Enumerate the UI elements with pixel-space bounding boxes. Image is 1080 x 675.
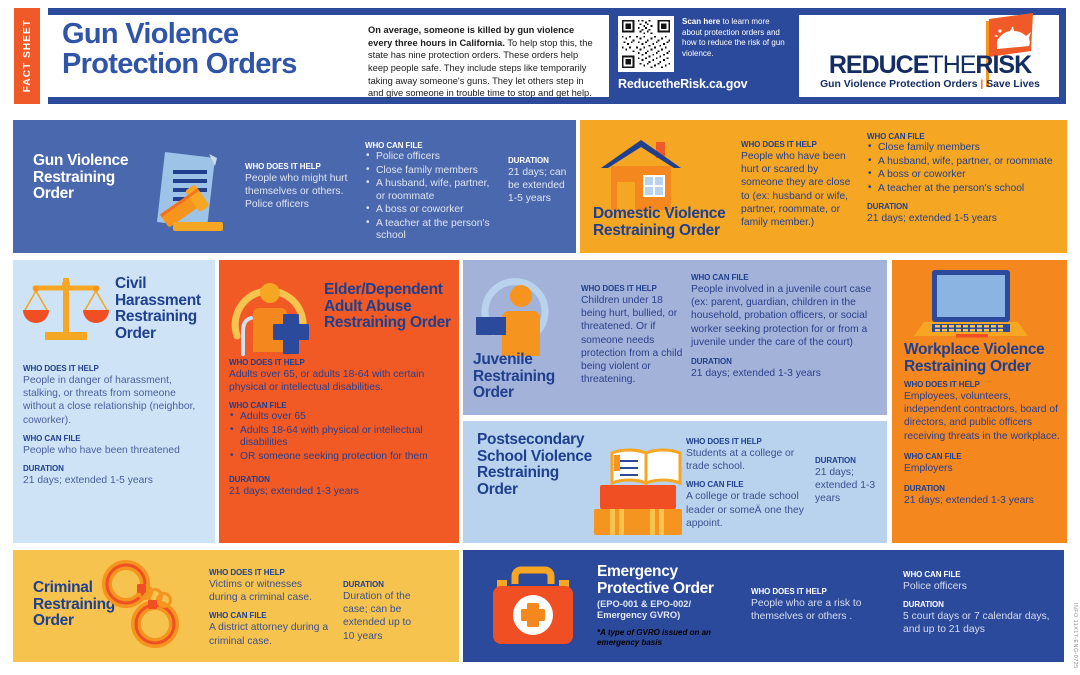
logo-tagline-left: Gun Violence Protection Orders [820,79,977,90]
infographic-page: FACT SHEET Gun Violence Protection Order… [0,0,1080,675]
text-who-help-cro: Victims or witnesses during a criminal c… [209,578,331,604]
text-duration-dvro: 21 days; extended 1-5 years [867,212,1057,225]
reduce-the-risk-logo: REDUCETHERISK Gun Violence Protection Or… [799,8,1066,104]
card-title-wvro-line1: Workplace Violence [904,342,1064,359]
card-title-gvro: Gun Violence Restraining Order [33,153,153,203]
card-elder-dependent-adult-abuse-restraining-order: Elder/Dependent Adult Abuse Restraining … [219,260,459,543]
text-who-help-jro: Children under 18 being hurt, bullied, o… [581,294,685,386]
card-workplace-violence-restraining-order: Workplace Violence Restraining Order WHO… [892,260,1067,543]
card-title-psvro: Postsecondary School Violence Restrainin… [477,432,592,498]
text-who-file-psvro: A college or trade school leader or some… [686,490,808,530]
card-note-epo-line2: emergency basis [597,638,727,648]
page-title-line2: Protection Orders [62,50,362,80]
label-duration-psvro: DURATION [815,456,877,465]
list-item: A husband, wife, partner, or roommate [867,156,1057,169]
label-duration-edaro: DURATION [229,475,451,484]
text-who-help-wvro: Employees, volunteers, independent contr… [904,390,1060,443]
document-code: INFO 11X17-ENG-0725 [1072,603,1078,669]
card-criminal-restraining-order: Criminal Restraining Order WHO DOES IT H… [13,550,459,662]
first-aid-kit-icon [483,562,583,653]
list-item: Adults 18-64 with physical or intellectu… [229,425,451,450]
text-duration-gvro: 21 days; can be extended 1-5 years [508,166,572,206]
label-who-help-wvro: WHO DOES IT HELP [904,380,1060,389]
fact-sheet-label: FACT SHEET [22,19,33,92]
card-emergency-protective-order: Emergency Protective Order (EPO-001 & EP… [463,550,1064,662]
gavel-document-icon [137,142,237,247]
card-title-edaro-line1: Elder/Dependent [324,282,454,299]
label-duration-jro: DURATION [691,357,881,366]
card-domestic-violence-restraining-order: Domestic Violence Restraining Order WHO … [580,120,1067,253]
list-item: A teacher at the person's school [867,183,1057,196]
text-duration-psvro: 21 days; extended 1-3 years [815,466,877,506]
logo-word-the: THE [928,51,975,79]
card-postsecondary-school-violence-restraining-order: Postsecondary School Violence Restrainin… [463,421,887,543]
text-duration-cro: Duration of the case; can be extended up… [343,590,425,643]
text-who-file-cro: A district attorney during a criminal ca… [209,621,331,647]
list-item: A boss or coworker [867,169,1057,182]
handcuffs-icon [93,556,201,661]
label-who-help-chro: WHO DOES IT HELP [23,364,208,373]
list-who-file-gvro: Police officers Close family members A h… [365,151,500,243]
page-header: FACT SHEET Gun Violence Protection Order… [0,0,1080,112]
card-subtitle-epo: (EPO-001 & EPO-002/ Emergency GVRO) [597,599,727,621]
card-gun-violence-restraining-order: Gun Violence Restraining Order WHO DOES … [13,120,576,253]
page-title: Gun Violence Protection Orders [62,20,362,79]
stack-of-books-icon [588,441,688,542]
label-who-file-wvro: WHO CAN FILE [904,452,1060,461]
qr-code-icon[interactable] [618,16,674,72]
text-who-file-wvro: Employers [904,462,1060,475]
card-title-jro: Juvenile Restraining Order [473,352,573,402]
text-who-help-psvro: Students at a college or trade school. [686,447,808,473]
label-who-file-dvro: WHO CAN FILE [867,132,1057,141]
card-subtitle-epo-line2: Emergency GVRO) [597,610,727,621]
label-who-file-edaro: WHO CAN FILE [229,401,451,410]
list-item: Police officers [365,151,500,164]
text-who-help-edaro: Adults over 65, or adults 18-64 with cer… [229,368,451,394]
label-who-file-gvro: WHO CAN FILE [365,141,500,150]
child-person-icon [471,266,569,363]
fact-sheet-tab: FACT SHEET [14,8,40,104]
list-who-file-edaro: Adults over 65 Adults 18-64 with physica… [229,411,451,463]
label-duration-wvro: DURATION [904,484,1060,493]
list-item: Close family members [867,142,1057,155]
list-item: Close family members [365,165,500,178]
laptop-icon [910,266,1032,349]
label-duration-cro: DURATION [343,580,425,589]
label-who-help-edaro: WHO DOES IT HELP [229,358,451,367]
card-juvenile-restraining-order: Juvenile Restraining Order WHO DOES IT H… [463,260,887,415]
text-duration-jro: 21 days; extended 1-3 years [691,367,881,380]
card-note-epo-line1: *A type of GVRO issued on an [597,628,727,638]
text-duration-epo: 5 court days or 7 calendar days, and up … [903,610,1051,636]
card-title-epo-line2: Protective Order [597,581,727,598]
logo-tagline: Gun Violence Protection Orders | Save Li… [805,79,1055,90]
label-who-help-jro: WHO DOES IT HELP [581,284,685,293]
list-item: Adults over 65 [229,411,451,424]
label-who-help-epo: WHO DOES IT HELP [751,587,871,596]
card-title-edaro-line3: Restraining Order [324,315,454,332]
text-who-file-epo: Police officers [903,580,1051,593]
label-who-help-gvro: WHO DOES IT HELP [245,162,355,171]
logo-tagline-right: Save Lives [986,79,1040,90]
qr-caption: Scan here to learn more about protection… [682,16,790,72]
label-duration-gvro: DURATION [508,156,572,165]
page-title-line1: Gun Violence [62,20,362,50]
list-item: A boss or coworker [365,204,500,217]
label-who-help-psvro: WHO DOES IT HELP [686,437,808,446]
scales-of-justice-icon [21,272,111,357]
card-title-epo-line1: Emergency [597,564,727,581]
text-duration-edaro: 21 days; extended 1-3 years [229,485,451,498]
list-who-file-dvro: Close family members A husband, wife, pa… [867,142,1057,195]
card-civil-harassment-restraining-order: Civil Harassment Restraining Order WHO D… [13,260,215,543]
qr-caption-bold: Scan here [682,17,720,26]
text-who-help-chro: People in danger of harassment, stalking… [23,374,208,427]
card-note-epo: *A type of GVRO issued on an emergency b… [597,628,727,648]
label-duration-chro: DURATION [23,464,208,473]
label-duration-dvro: DURATION [867,202,1057,211]
list-item: A teacher at the person's school [365,218,500,243]
logo-word-risk: RISK [975,51,1031,79]
label-who-file-psvro: WHO CAN FILE [686,480,808,489]
card-title-wvro: Workplace Violence Restraining Order [904,342,1064,375]
card-title-chro: Civil Harassment Restraining Order [115,276,211,342]
text-who-file-jro: People involved in a juvenile court case… [691,283,881,349]
text-who-help-dvro: People who have been hurt or scared by s… [741,150,859,229]
label-who-file-chro: WHO CAN FILE [23,434,208,443]
logo-wordmark: REDUCETHERISK [805,51,1055,80]
list-item: OR someone seeking protection for them [229,451,451,464]
card-title-edaro: Elder/Dependent Adult Abuse Restraining … [324,282,454,332]
text-who-file-chro: People who have been threatened [23,444,208,457]
text-who-help-gvro: People who might hurt themselves or othe… [245,172,355,212]
intro-paragraph: On average, someone is killed by gun vio… [368,24,600,100]
card-title-wvro-line2: Restraining Order [904,359,1064,376]
logo-tagline-divider: | [980,79,983,90]
label-who-file-epo: WHO CAN FILE [903,570,1051,579]
elder-person-medical-cross-icon [225,266,325,369]
text-duration-chro: 21 days; extended 1-5 years [23,474,208,487]
qr-block: Scan here to learn more about protection… [609,8,799,104]
card-subtitle-epo-line1: (EPO-001 & EPO-002/ [597,599,727,610]
label-duration-epo: DURATION [903,600,1051,609]
text-who-help-epo: People who are a risk to themselves or o… [751,597,871,623]
logo-word-reduce: REDUCE [829,51,929,79]
card-title-edaro-line2: Adult Abuse [324,299,454,316]
card-title-epo: Emergency Protective Order [597,564,727,597]
label-who-help-cro: WHO DOES IT HELP [209,568,331,577]
label-who-file-cro: WHO CAN FILE [209,611,331,620]
label-who-help-dvro: WHO DOES IT HELP [741,140,859,149]
text-duration-wvro: 21 days; extended 1-3 years [904,494,1060,507]
title-block: Gun Violence Protection Orders On averag… [48,8,609,104]
list-item: A husband, wife, partner, or roommate [365,178,500,203]
label-who-file-jro: WHO CAN FILE [691,273,881,282]
website-url[interactable]: ReducetheRisk.ca.gov [618,77,791,91]
